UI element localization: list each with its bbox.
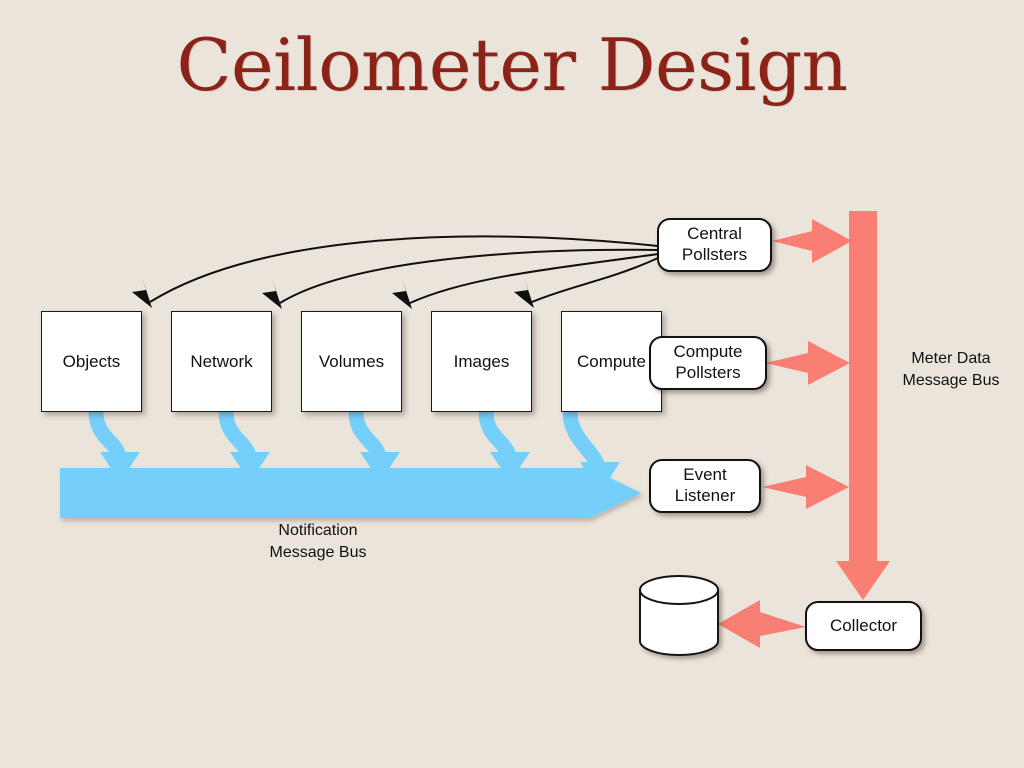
notification-message-bus-arrow <box>60 468 641 518</box>
central-pollster-arrow-images <box>532 258 658 302</box>
meter-bus-label-line1: Meter Data <box>876 348 1024 370</box>
notification-bus-label-line1: Notification <box>238 520 398 542</box>
database-cylinder <box>640 576 718 655</box>
meter-data-message-bus-label: Meter Data Message Bus <box>876 348 1024 391</box>
meter-feeder-arrow-compute <box>765 341 850 385</box>
resource-box-label: Network <box>190 352 252 372</box>
event-listener-label-line1: Event <box>683 465 726 486</box>
central-pollster-arrow-network <box>280 250 658 303</box>
notification-bus-label-line2: Message Bus <box>238 542 398 564</box>
compute-pollsters-box[interactable]: Compute Pollsters <box>649 336 767 390</box>
resource-box-label: Images <box>454 352 510 372</box>
central-pollsters-box[interactable]: Central Pollsters <box>657 218 772 272</box>
meter-data-message-bus-arrow <box>836 211 890 600</box>
event-listener-label-line2: Listener <box>675 486 735 507</box>
resource-box-label: Objects <box>63 352 121 372</box>
central-pollsters-label-line1: Central <box>687 224 742 245</box>
meter-bus-label-line2: Message Bus <box>876 370 1024 392</box>
resource-box-compute[interactable]: Compute <box>561 311 662 412</box>
resource-box-label: Compute <box>577 352 646 372</box>
compute-pollsters-label-line1: Compute <box>674 342 743 363</box>
resource-box-label: Volumes <box>319 352 384 372</box>
resource-box-volumes[interactable]: Volumes <box>301 311 402 412</box>
meter-feeder-arrow-central <box>772 219 852 263</box>
collector-to-database-arrow <box>718 600 806 648</box>
collector-label: Collector <box>830 616 897 637</box>
central-pollster-arrow-volumes <box>410 254 658 303</box>
compute-pollsters-label-line2: Pollsters <box>675 363 740 384</box>
resource-box-objects[interactable]: Objects <box>41 311 142 412</box>
notification-message-bus-label: Notification Message Bus <box>238 520 398 563</box>
central-pollsters-label-line2: Pollsters <box>682 245 747 266</box>
event-listener-box[interactable]: Event Listener <box>649 459 761 513</box>
meter-feeder-arrow-event <box>762 465 849 509</box>
resource-box-network[interactable]: Network <box>171 311 272 412</box>
page-title: Ceilometer Design <box>0 28 1024 104</box>
slide-canvas: Ceilometer Design <box>0 0 1024 768</box>
resource-box-images[interactable]: Images <box>431 311 532 412</box>
collector-box[interactable]: Collector <box>805 601 922 651</box>
